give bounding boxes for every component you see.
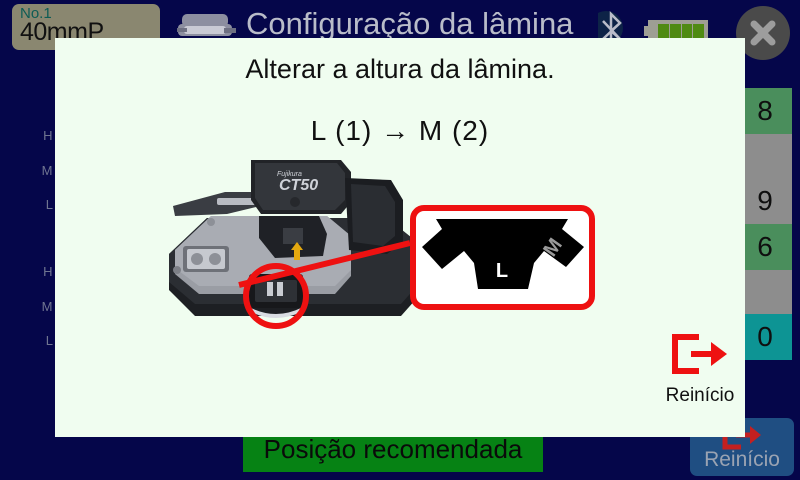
exit-arrow-icon (669, 333, 731, 375)
screen-root: No.1 40mmP Configuração da lâmina (0, 0, 800, 480)
app-title: Configuração da lâmina (246, 6, 573, 42)
dialog-transition-label: L (1) → M (2) (55, 115, 745, 147)
restart-button-label: Reinício (690, 448, 794, 472)
blade-dial-diagram: L M (416, 211, 589, 304)
value-cell-3[interactable]: 6 (738, 224, 792, 270)
dialog-title: Alterar a altura da lâmina. (55, 54, 745, 85)
fiber-cleaver-image: Fujikura CT50 (155, 158, 430, 343)
value-cell-2[interactable]: 9 (738, 178, 792, 224)
blade-height-dialog: Alterar a altura da lâmina. L (1) → M (2… (55, 38, 745, 437)
callout-label-l: L (496, 260, 508, 282)
restart-hint[interactable]: Reinício (635, 333, 765, 407)
device-model-text: CT50 (279, 177, 318, 194)
value-cell-spacer-2 (738, 270, 792, 316)
value-cell-spacer-1 (738, 134, 792, 180)
blade-dial-callout: L M (410, 205, 595, 310)
close-x-icon (746, 16, 780, 50)
restart-hint-label: Reinício (635, 385, 765, 407)
value-cell-1[interactable]: 8 (738, 88, 792, 134)
